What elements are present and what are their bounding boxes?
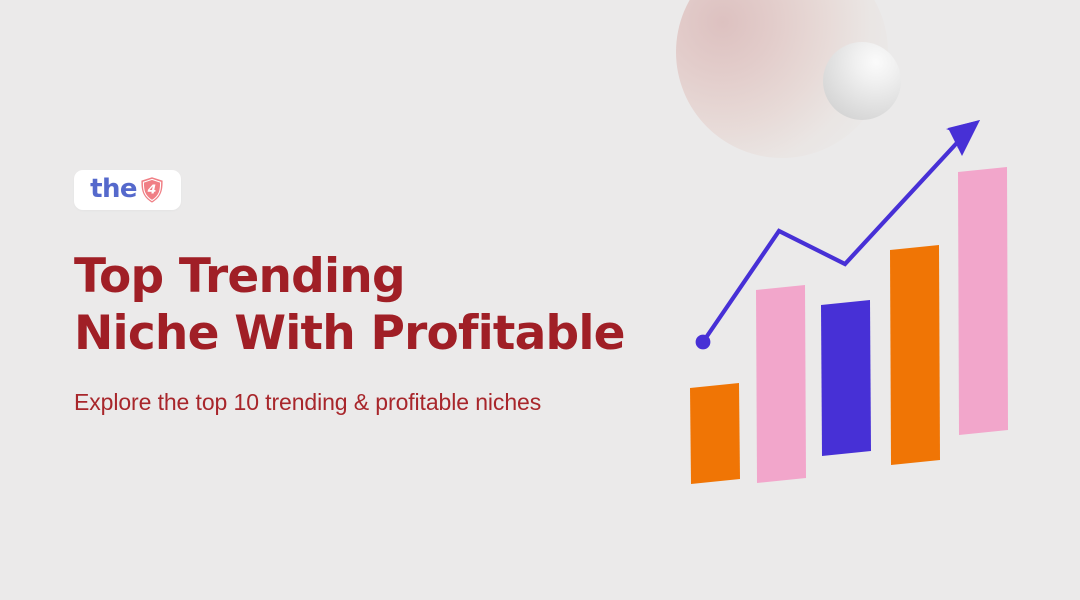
page-title: Top Trending Niche With Profitable bbox=[74, 248, 654, 363]
hero-banner: the 4 Top Trending Niche With Profitable… bbox=[0, 0, 1080, 600]
logo[interactable]: the 4 bbox=[74, 170, 181, 210]
chart-bar-2 bbox=[756, 285, 806, 483]
chart-bar-4 bbox=[890, 245, 940, 465]
chart-bars bbox=[690, 167, 1008, 484]
trend-arrowhead-fill bbox=[948, 120, 980, 156]
bar-chart-illustration bbox=[660, 100, 1060, 520]
logo-wordmark: the bbox=[90, 176, 137, 202]
hero-content: the 4 Top Trending Niche With Profitable… bbox=[74, 170, 654, 416]
chart-bar-1 bbox=[690, 383, 740, 484]
svg-text:4: 4 bbox=[147, 181, 157, 196]
trend-start-dot bbox=[696, 335, 711, 350]
hero-subtitle: Explore the top 10 trending & profitable… bbox=[74, 389, 654, 416]
chart-bar-3 bbox=[821, 300, 871, 456]
chart-bar-5 bbox=[958, 167, 1008, 435]
shield-icon: 4 bbox=[139, 176, 165, 204]
